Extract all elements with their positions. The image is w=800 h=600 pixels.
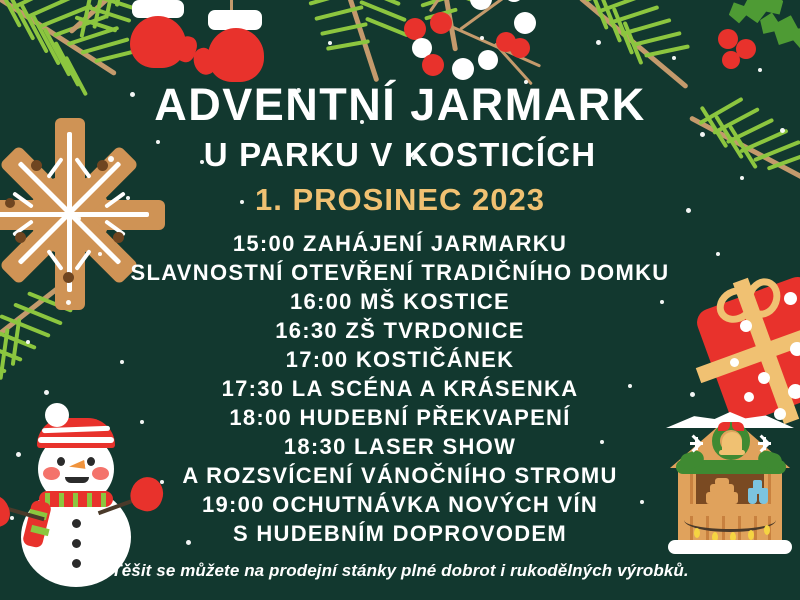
program-line: 18:30 LASER SHOW — [284, 432, 516, 461]
poster-footer-note: Těšit se můžete na prodejní stánky plné … — [111, 561, 688, 581]
poster-date: 1. PROSINEC 2023 — [255, 184, 545, 215]
program-line: 15:00 ZAHÁJENÍ JARMARKU — [233, 229, 567, 258]
program-line: A ROZSVÍCENÍ VÁNOČNÍHO STROMU — [182, 461, 617, 490]
program-schedule-list: 15:00 ZAHÁJENÍ JARMARKU SLAVNOSTNÍ OTEVŘ… — [0, 229, 800, 548]
program-line: 18:00 HUDEBNÍ PŘEKVAPENÍ — [229, 403, 570, 432]
program-line: 16:30 ZŠ TVRDONICE — [275, 316, 525, 345]
program-line: S HUDEBNÍM DOPROVODEM — [233, 519, 567, 548]
poster-title: ADVENTNÍ JARMARK — [154, 82, 646, 127]
program-line: 16:00 MŠ KOSTICE — [290, 287, 510, 316]
poster-canvas: ADVENTNÍ JARMARK U PARKU V KOSTICÍCH 1. … — [0, 0, 800, 600]
poster-subtitle: U PARKU V KOSTICÍCH — [204, 138, 597, 171]
program-line: 17:00 KOSTIČÁNEK — [286, 345, 515, 374]
program-line: 17:30 LA SCÉNA A KRÁSENKA — [222, 374, 579, 403]
program-line: 19:00 OCHUTNÁVKA NOVÝCH VÍN — [202, 490, 598, 519]
program-line: SLAVNOSTNÍ OTEVŘENÍ TRADIČNÍHO DOMKU — [131, 258, 670, 287]
poster-text-content: ADVENTNÍ JARMARK U PARKU V KOSTICÍCH 1. … — [0, 0, 800, 600]
